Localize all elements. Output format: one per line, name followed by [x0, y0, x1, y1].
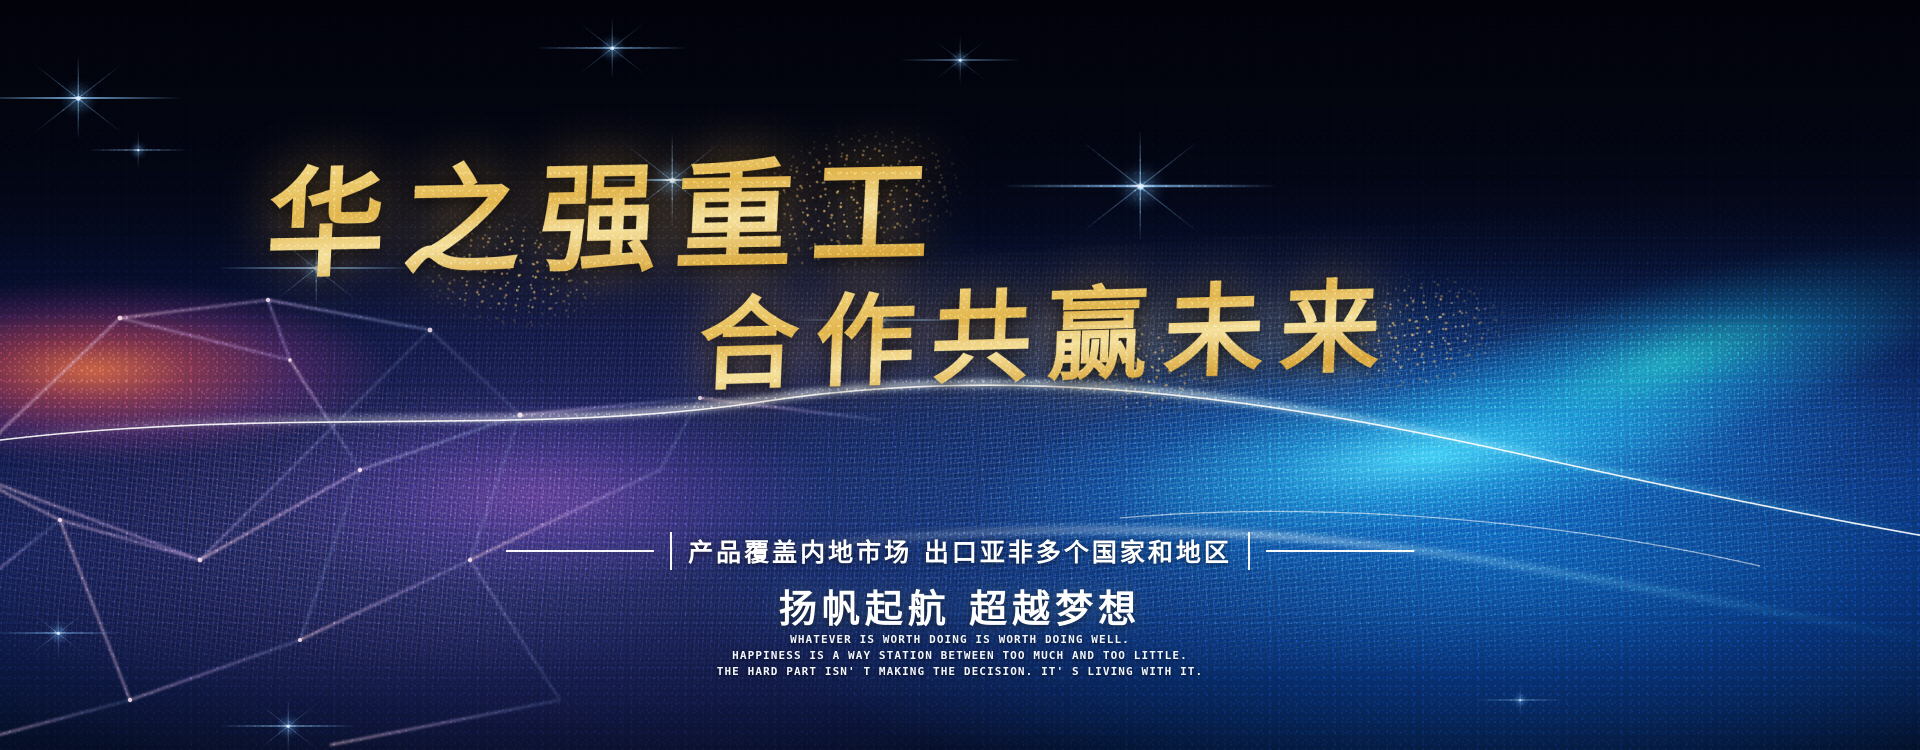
motto-line-3: THE HARD PART ISN' T MAKING THE DECISION…: [0, 664, 1920, 680]
promotional-banner: 华之强重工 合作共赢未来 产品覆盖内地市场 出口亚非多个国家和地区 扬帆起航 超…: [0, 0, 1920, 750]
motto-line-2: HAPPINESS IS A WAY STATION BETWEEN TOO M…: [0, 648, 1920, 664]
motto-line-1: WHATEVER IS WORTH DOING IS WORTH DOING W…: [0, 632, 1920, 648]
divider-bar-left: [670, 532, 672, 570]
tagline-text: 扬帆起航 超越梦想: [0, 578, 1920, 633]
divider-rule-left: [506, 550, 654, 552]
subtitle-row: 产品覆盖内地市场 出口亚非多个国家和地区: [0, 532, 1920, 570]
divider-bar-right: [1248, 532, 1250, 570]
subtitle-text: 产品覆盖内地市场 出口亚非多个国家和地区: [688, 533, 1232, 569]
divider-rule-right: [1266, 550, 1414, 552]
company-title-line-2: 合作共赢未来: [696, 245, 1399, 409]
english-motto-block: WHATEVER IS WORTH DOING IS WORTH DOING W…: [0, 632, 1920, 680]
